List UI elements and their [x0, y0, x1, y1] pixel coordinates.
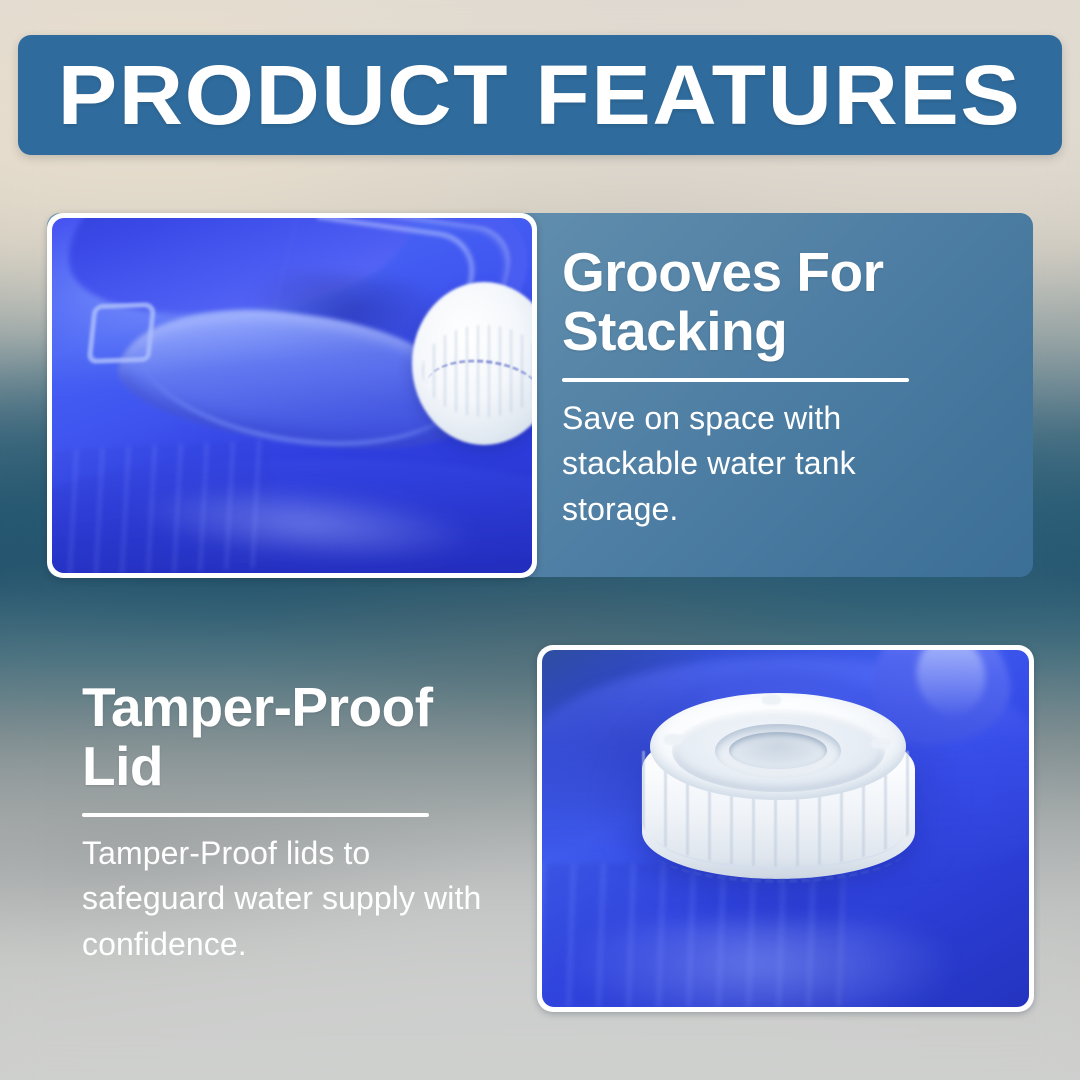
- tamper-proof-cap: [642, 693, 915, 900]
- tamper-proof-cap-photo: [542, 650, 1029, 1007]
- header-banner: PRODUCT FEATURES: [18, 35, 1062, 155]
- feature-divider-tamper-proof: [82, 813, 429, 817]
- feature-divider-grooves: [562, 378, 909, 382]
- feature-title-tamper-proof: Tamper-Proof Lid: [82, 678, 482, 797]
- water-tank-top-photo: [52, 218, 532, 573]
- feature-title-grooves: Grooves For Stacking: [562, 243, 962, 362]
- feature-image-frame-tamper-proof: [537, 645, 1034, 1012]
- product-features-infographic: PRODUCT FEATURES Grooves For Stacking Sa…: [0, 0, 1080, 1080]
- cap-notch-right: [871, 738, 890, 748]
- cap-tamper-evident-ring: [647, 809, 909, 883]
- feature-image-frame-grooves: [47, 213, 537, 578]
- tank-tab-loop: [87, 302, 157, 364]
- container-bottom-sheen: [571, 921, 951, 1007]
- feature-description-tamper-proof: Tamper-Proof lids to safeguard water sup…: [82, 831, 482, 967]
- feature-text-tamper-proof: Tamper-Proof Lid Tamper-Proof lids to sa…: [82, 678, 482, 967]
- cap-notch-left: [664, 734, 683, 744]
- page-title: PRODUCT FEATURES: [58, 53, 1022, 137]
- feature-text-grooves: Grooves For Stacking Save on space with …: [562, 243, 962, 532]
- cap-notch-top: [762, 695, 781, 705]
- feature-description-grooves: Save on space with stackable water tank …: [562, 396, 962, 532]
